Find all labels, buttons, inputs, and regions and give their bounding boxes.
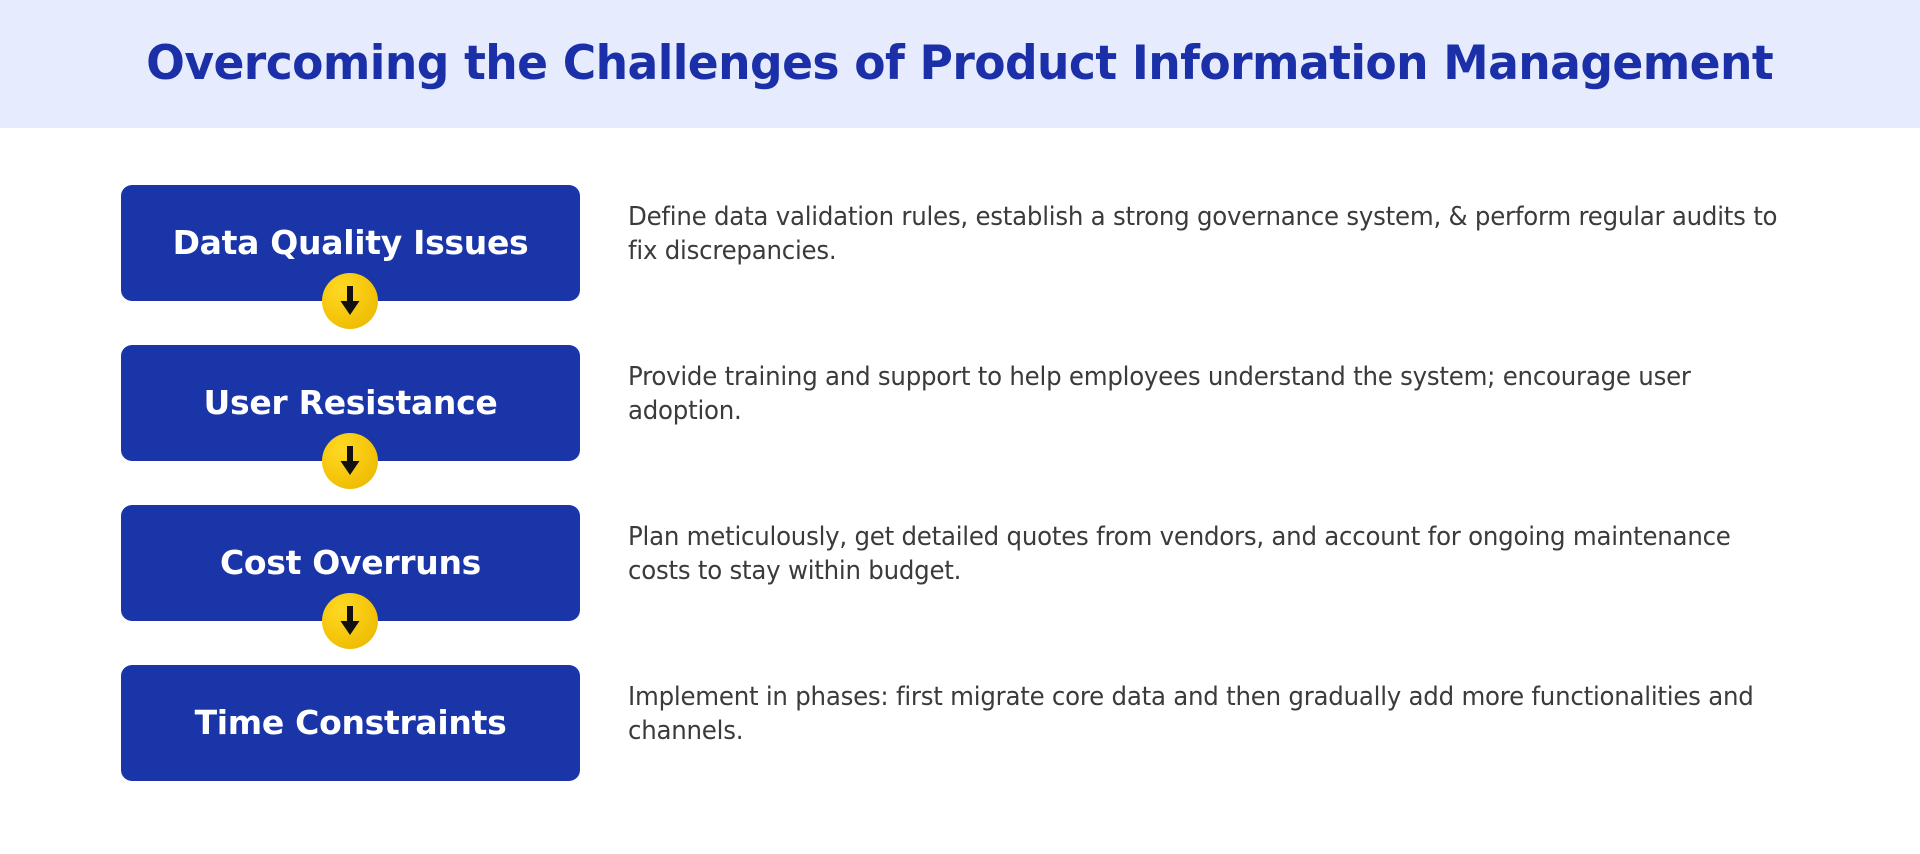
- arrow-down-glyph: [337, 446, 363, 476]
- challenge-box-label: User Resistance: [204, 385, 498, 421]
- arrow-down-glyph: [337, 286, 363, 316]
- flow-step-row: Time Constraints Implement in phases: fi…: [0, 665, 1920, 781]
- header-band: Overcoming the Challenges of Product Inf…: [0, 0, 1920, 128]
- arrow-down-icon: [322, 273, 378, 329]
- flow-step-row: Cost Overruns Plan meticulously, get det…: [0, 505, 1920, 621]
- challenge-description: Implement in phases: first migrate core …: [628, 681, 1790, 749]
- page-title: Overcoming the Challenges of Product Inf…: [147, 38, 1774, 90]
- challenge-box-time-constraints[interactable]: Time Constraints: [121, 665, 580, 781]
- flow-diagram: Data Quality Issues Define data validati…: [0, 128, 1920, 854]
- flow-step-row: Data Quality Issues Define data validati…: [0, 185, 1920, 301]
- challenge-box-label: Cost Overruns: [220, 545, 481, 581]
- flow-step-row: User Resistance Provide training and sup…: [0, 345, 1920, 461]
- arrow-down-icon: [322, 433, 378, 489]
- arrow-down-icon: [322, 593, 378, 649]
- challenge-description: Define data validation rules, establish …: [628, 201, 1790, 269]
- arrow-down-glyph: [337, 606, 363, 636]
- challenge-description: Plan meticulously, get detailed quotes f…: [628, 521, 1790, 589]
- challenge-box-label: Data Quality Issues: [173, 225, 529, 261]
- challenge-box-label: Time Constraints: [195, 705, 507, 741]
- challenge-description: Provide training and support to help emp…: [628, 361, 1790, 429]
